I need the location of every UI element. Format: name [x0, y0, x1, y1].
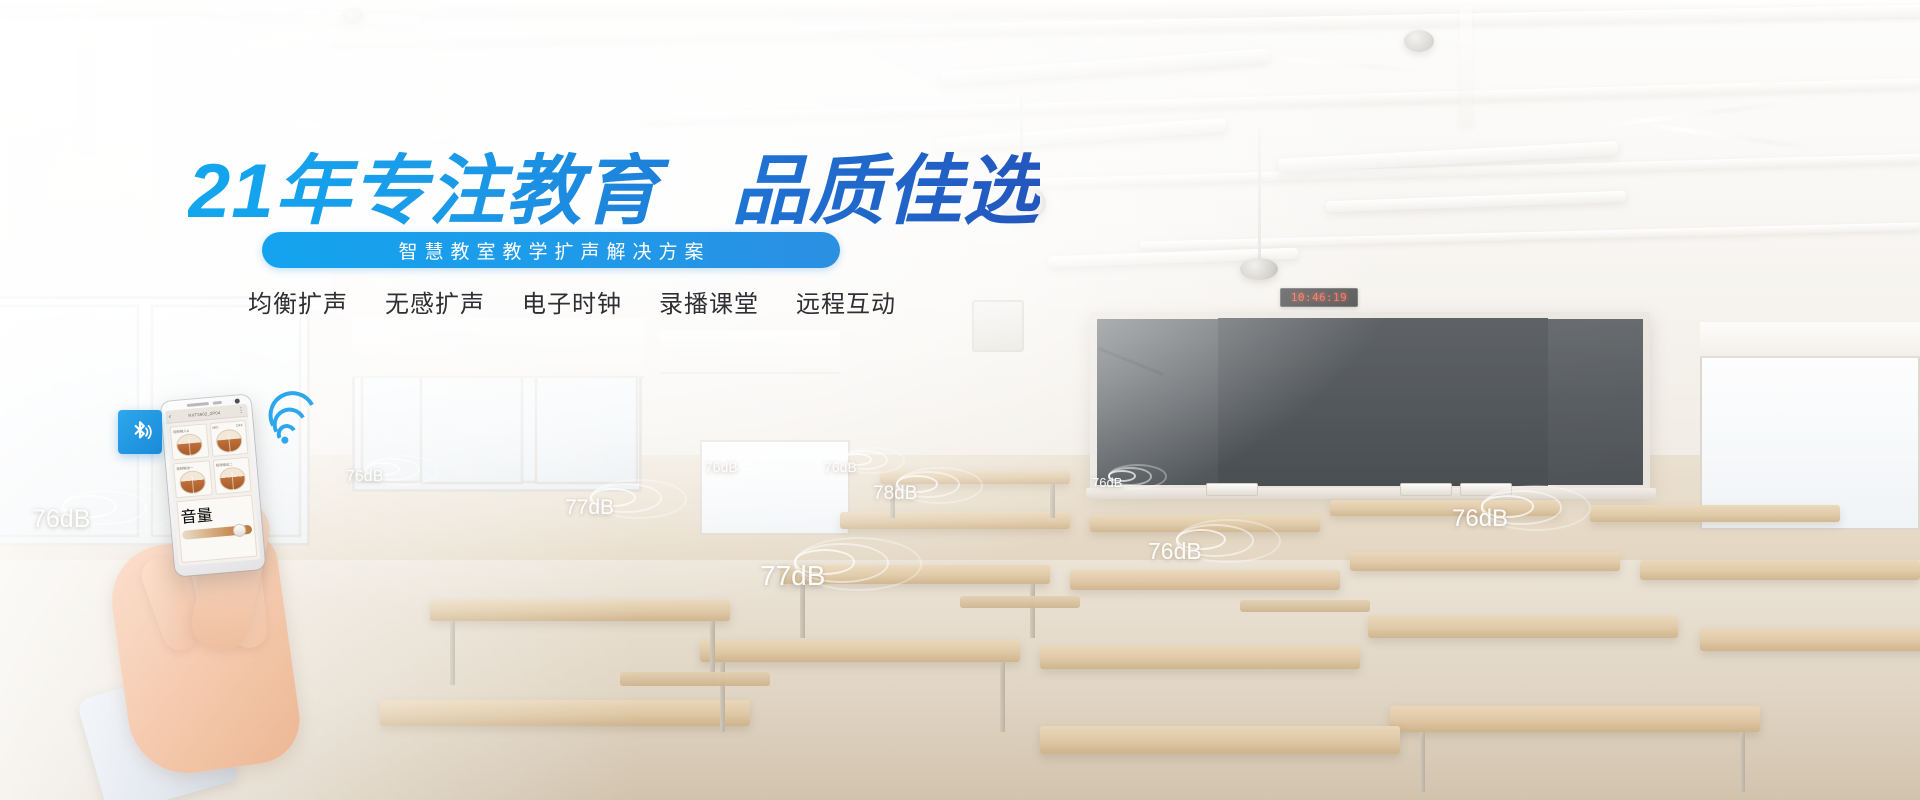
db-label: 76dB	[1092, 475, 1122, 490]
student-chair	[620, 672, 770, 686]
desk-leg	[1420, 732, 1425, 792]
ceiling-beam	[1460, 6, 1472, 126]
desk-leg	[1740, 732, 1745, 792]
desk-leg	[1050, 484, 1055, 518]
student-desk	[840, 512, 1070, 529]
hand-holding-phone: ‹ NXT3602_2P04 ⋮ 视频输入A MIC	[90, 380, 470, 800]
speaker-rod	[1258, 128, 1261, 266]
volume-slider-thumb[interactable]	[232, 523, 246, 537]
db-label: 76dB	[32, 505, 90, 534]
volume-knob[interactable]	[218, 467, 246, 492]
db-label: 77dB	[565, 496, 614, 520]
volume-knob[interactable]	[179, 470, 207, 495]
board-control-panel	[1206, 483, 1258, 496]
headline-primary: 21年专注教育	[188, 149, 660, 234]
app-control-card[interactable]: 视频输入A	[170, 423, 209, 460]
smartphone: ‹ NXT3602_2P04 ⋮ 视频输入A MIC	[161, 394, 266, 576]
desk-leg	[1000, 662, 1005, 732]
volume-knob[interactable]	[215, 428, 243, 454]
window-right	[1700, 330, 1920, 530]
feature-item-3: 录播课堂	[659, 284, 759, 319]
student-desk	[1700, 628, 1920, 651]
student-chair	[960, 596, 1080, 608]
feature-list: 均衡扩声 无感扩声 电子时钟 录播课堂 远程互动	[248, 284, 896, 319]
student-desk	[1390, 706, 1760, 732]
wifi-arc	[263, 385, 323, 445]
phone-sensor	[213, 401, 222, 404]
phone-screen: ‹ NXT3602_2P04 ⋮ 视频输入A MIC	[165, 404, 260, 567]
app-control-card[interactable]: MIC OFF	[209, 420, 248, 457]
window-blind	[1700, 322, 1920, 358]
app-control-card[interactable]: 视频输出二	[212, 457, 251, 494]
db-label: 76dB	[705, 459, 738, 475]
feature-item-4: 远程互动	[796, 284, 896, 319]
student-desk	[1590, 505, 1840, 522]
student-desk	[1040, 646, 1360, 669]
bluetooth-icon	[127, 419, 153, 445]
app-card-value: OFF	[236, 423, 243, 428]
desk-leg	[800, 584, 805, 638]
phone-earpiece	[187, 402, 209, 406]
db-label: 78dB	[873, 483, 917, 505]
desk-leg	[1030, 584, 1035, 638]
student-desk	[1350, 552, 1620, 571]
feature-item-0: 均衡扩声	[248, 284, 348, 319]
feature-item-2: 电子时钟	[522, 284, 622, 319]
volume-knob[interactable]	[176, 433, 204, 458]
subtitle-text: 智慧教室教学扩声解决方案	[391, 237, 710, 264]
ceiling-speaker	[1240, 258, 1278, 280]
led-clock-time: 10:46:19	[1291, 291, 1347, 304]
app-volume-slider-card[interactable]: 音量	[176, 494, 257, 563]
volume-slider-track[interactable]	[182, 524, 253, 539]
chevron-left-icon[interactable]: ‹	[169, 413, 172, 420]
student-chair	[1240, 600, 1370, 612]
window-blind	[660, 330, 840, 374]
interactive-screen	[1218, 318, 1548, 486]
student-desk	[1070, 570, 1340, 590]
feature-item-1: 无感扩声	[385, 284, 485, 319]
student-desk	[1640, 560, 1920, 580]
student-desk	[1040, 726, 1400, 754]
bluetooth-badge	[118, 410, 162, 454]
phone-front-camera	[235, 398, 240, 403]
db-label: 77dB	[760, 560, 825, 592]
subtitle-pill: 智慧教室教学扩声解决方案	[262, 232, 840, 268]
more-vertical-icon[interactable]: ⋮	[237, 406, 245, 414]
led-clock: 10:46:19	[1280, 288, 1358, 307]
slider-label: 音量	[180, 507, 213, 527]
app-title: NXT3602_2P04	[188, 410, 221, 418]
student-desk	[700, 640, 1020, 662]
hero-banner: 10:46:19	[0, 0, 1920, 800]
wall-ac-unit	[972, 300, 1024, 352]
app-card-label: MIC	[212, 425, 219, 430]
headline-secondary: 品质佳选	[732, 149, 1040, 234]
page-title: 21年专注教育 品质佳选	[188, 152, 1040, 232]
student-desk	[430, 600, 730, 621]
student-desk	[1368, 616, 1678, 638]
db-label: 76dB	[824, 459, 857, 475]
ceiling-speaker	[1404, 30, 1434, 52]
app-control-grid: 视频输入A MIC OFF 视频输出一	[166, 417, 260, 567]
db-label: 76dB	[1452, 505, 1508, 533]
ceiling-beam	[80, 12, 94, 152]
ceiling-speaker	[342, 8, 364, 24]
app-control-card[interactable]: 视频输出一	[173, 461, 212, 498]
board-control-panel	[1400, 483, 1452, 496]
db-label: 76dB	[1148, 538, 1202, 565]
window-blind	[352, 318, 644, 378]
